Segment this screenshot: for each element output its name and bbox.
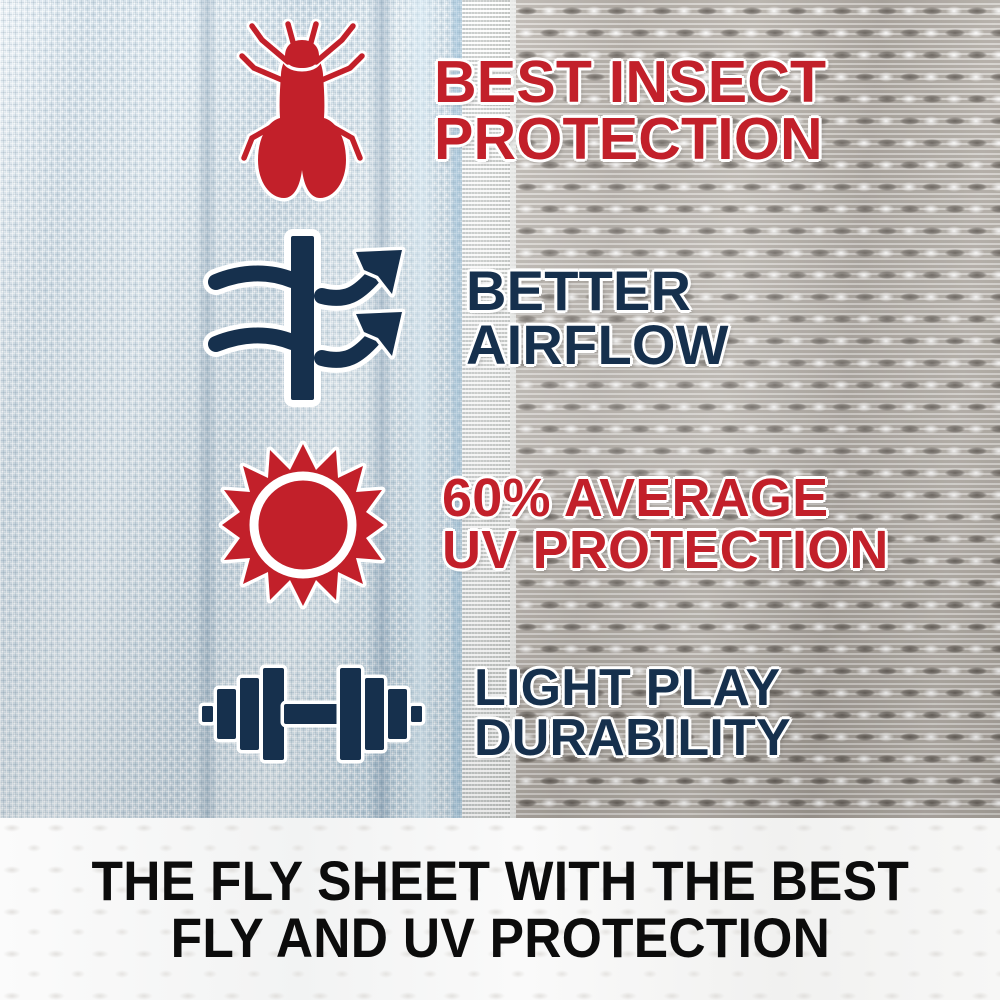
feature-label-insect: BEST INSECT PROTECTION (434, 54, 826, 167)
feature-icon-wrap (206, 238, 418, 398)
feature-icon-wrap (236, 18, 368, 204)
banner-line-2: FLY AND UV PROTECTION (170, 909, 829, 966)
fly-icon (236, 18, 368, 204)
feature-row-durability: LIGHT PLAY DURABILITY (200, 660, 791, 768)
bottom-banner: THE FLY SHEET WITH THE BEST FLY AND UV P… (0, 818, 1000, 1000)
infographic-canvas: BEST INSECT PROTECTION (0, 0, 1000, 1000)
sun-icon (222, 442, 384, 608)
feature-row-insect: BEST INSECT PROTECTION (236, 18, 826, 204)
feature-label-uv: 60% AVERAGE UV PROTECTION (442, 473, 889, 577)
feature-row-airflow: BETTER AIRFLOW (206, 238, 729, 398)
feature-icon-wrap (200, 660, 424, 768)
dumbbell-icon (200, 660, 424, 768)
feature-label-airflow: BETTER AIRFLOW (466, 264, 729, 372)
feature-row-uv: 60% AVERAGE UV PROTECTION (222, 442, 889, 608)
feature-list: BEST INSECT PROTECTION (0, 0, 1000, 820)
banner-line-1: THE FLY SHEET WITH THE BEST (91, 852, 909, 909)
feature-icon-wrap (222, 442, 384, 608)
feature-label-durability: LIGHT PLAY DURABILITY (474, 664, 791, 764)
airflow-arrows-icon (206, 238, 418, 398)
